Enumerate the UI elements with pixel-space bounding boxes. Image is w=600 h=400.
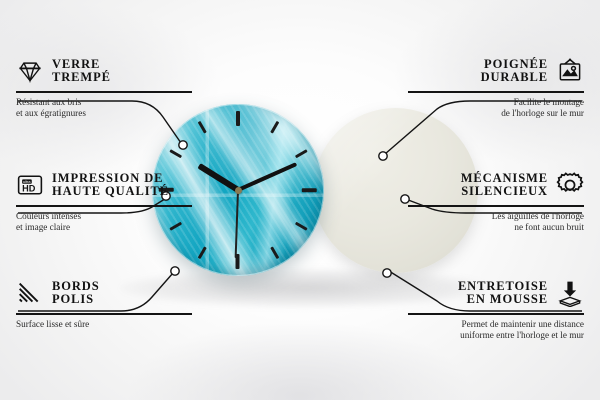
divider <box>408 313 584 315</box>
feature-title: POIGNÉEDURABLE <box>481 58 548 85</box>
feature-header: BORDSPOLIS <box>16 276 192 310</box>
feature-title: IMPRESSION DEHAUTE QUALITÉ <box>52 172 169 199</box>
feature-description: Surface lisse et sûre <box>16 319 192 331</box>
feature-header: VERRETREMPÉ <box>16 54 192 88</box>
feature-title: VERRETREMPÉ <box>52 58 111 85</box>
divider <box>408 205 584 207</box>
infographic-canvas: VERRETREMPÉ Résistant aux briset aux égr… <box>0 0 600 400</box>
feature-header: MÉCANISMESILENCIEUX <box>408 168 584 202</box>
divider <box>16 313 192 315</box>
feature-description: Permet de maintenir une distanceuniforme… <box>408 319 584 342</box>
feature-title: MÉCANISMESILENCIEUX <box>461 172 548 199</box>
polished-edges-icon <box>16 279 44 307</box>
ultra-hd-icon: ultra HD <box>16 171 44 199</box>
feature-description: Les aiguilles de l'horlogene font aucun … <box>408 211 584 234</box>
feature-bords-polis: BORDSPOLIS Surface lisse et sûre <box>16 276 192 330</box>
gear-icon <box>556 171 584 199</box>
feature-header: ENTRETOISEEN MOUSSE <box>408 276 584 310</box>
feature-header: ultra HD IMPRESSION DEHAUTE QUALITÉ <box>16 168 192 202</box>
feature-poignee-durable: POIGNÉEDURABLE Facilite le montagede l'h… <box>408 54 584 120</box>
feature-mecanisme-silencieux: MÉCANISMESILENCIEUX Les aiguilles de l'h… <box>408 168 584 234</box>
diamond-icon <box>16 57 44 85</box>
feature-description: Couleurs intenseset image claire <box>16 211 192 234</box>
feature-impression-haute-qualite: ultra HD IMPRESSION DEHAUTE QUALITÉ Coul… <box>16 168 192 234</box>
feature-verre-trempe: VERRETREMPÉ Résistant aux briset aux égr… <box>16 54 192 120</box>
svg-text:HD: HD <box>22 184 36 194</box>
divider <box>16 205 192 207</box>
divider <box>16 91 192 93</box>
feature-title: ENTRETOISEEN MOUSSE <box>458 280 548 307</box>
feature-description: Facilite le montagede l'horloge sur le m… <box>408 97 584 120</box>
hanging-frame-icon <box>556 57 584 85</box>
foam-spacer-icon <box>556 279 584 307</box>
feature-header: POIGNÉEDURABLE <box>408 54 584 88</box>
feature-description: Résistant aux briset aux égratignures <box>16 97 192 120</box>
divider <box>408 91 584 93</box>
feature-title: BORDSPOLIS <box>52 280 100 307</box>
feature-entretoise-en-mousse: ENTRETOISEEN MOUSSE Permet de maintenir … <box>408 276 584 342</box>
